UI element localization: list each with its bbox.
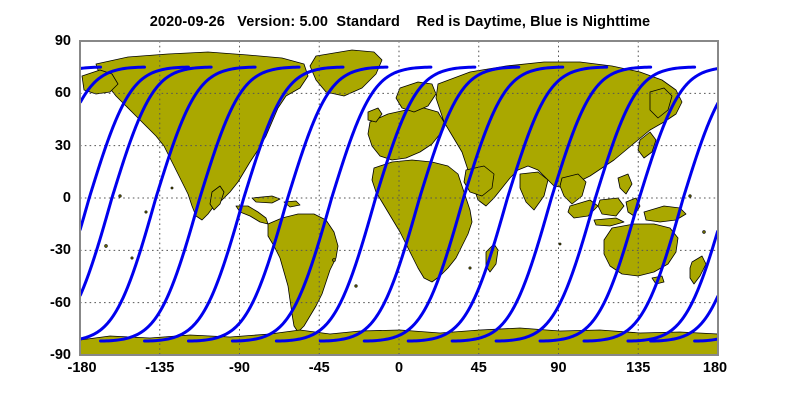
land-island [333,259,336,262]
land-island [469,267,471,269]
xtick-label-m45: -45 [309,360,330,376]
land-island [689,195,691,197]
ytick-label-90: 90 [26,33,71,49]
xtick-label-m180: -180 [67,360,96,376]
land-island [171,187,173,189]
land-island [145,211,147,213]
land-island [105,245,108,248]
ground-track-segment [80,67,100,68]
ytick-label-m30: -30 [26,242,71,258]
xtick-label-90: 90 [550,360,566,376]
xtick-label-135: 135 [626,360,650,376]
ytick-label-0: 0 [26,190,71,206]
ytick-label-30: 30 [26,138,71,154]
ytick-label-m60: -60 [26,295,71,311]
ytick-label-m90: -90 [26,347,71,363]
ytick-label-60: 60 [26,85,71,101]
xtick-label-m90: -90 [229,360,250,376]
xtick-label-45: 45 [471,360,487,376]
ground-track-plot [0,0,800,400]
ground-track-segment [695,339,717,341]
land-island [703,231,706,234]
chart-container: 2020-09-26 Version: 5.00 Standard Red is… [0,0,800,400]
xtick-label-m135: -135 [145,360,174,376]
xtick-label-180: 180 [703,360,727,376]
xtick-label-0: 0 [395,360,403,376]
land-island [355,285,357,287]
land-island [559,243,561,245]
land-island [131,257,133,259]
land-island [119,195,121,197]
